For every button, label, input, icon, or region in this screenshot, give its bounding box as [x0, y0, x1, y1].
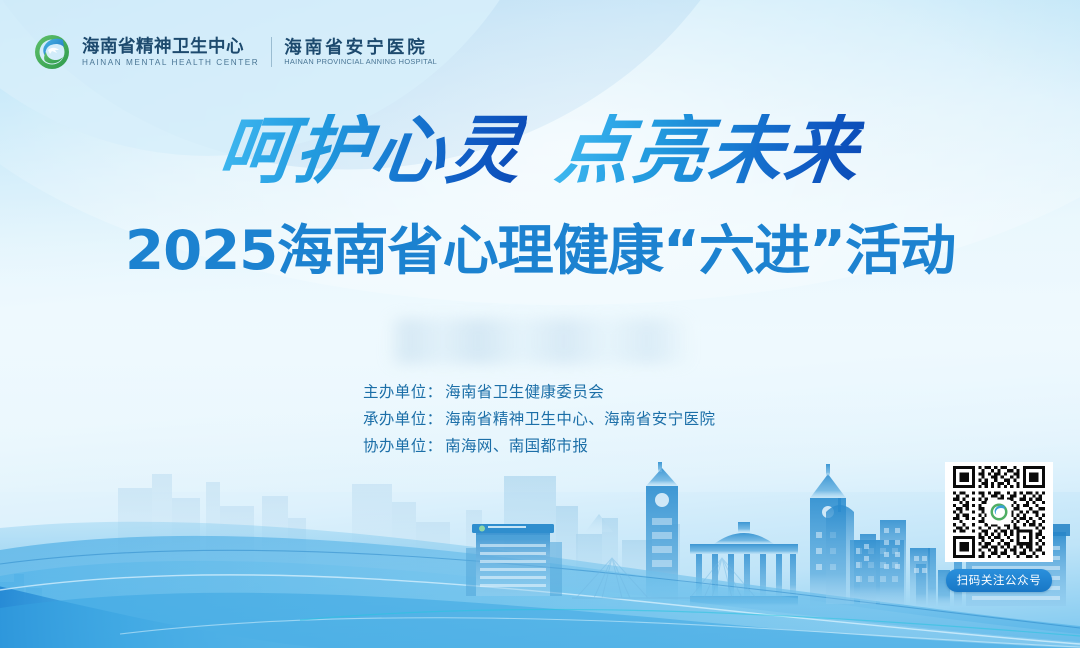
brand-wordmarks: 海南省精神卫生中心 HAINAN MENTAL HEALTH CENTER 海南… [82, 37, 437, 67]
organizer-credits: 主办单位 ： 海南省卫生健康委员会 承办单位 ： 海南省精神卫生中心、海南省安宁… [363, 382, 715, 457]
headline-part-2: 点亮未来 [553, 114, 866, 188]
cable-stay-bridges [572, 540, 782, 602]
credit-label: 承办单位 [363, 409, 427, 430]
qr-code-block[interactable]: 扫码关注公众号 [942, 462, 1056, 592]
event-subtitle: 2025海南省心理健康“六进”活动 [0, 222, 1080, 279]
credit-separator: ： [427, 409, 446, 430]
brand-primary: 海南省精神卫生中心 HAINAN MENTAL HEALTH CENTER [82, 37, 259, 67]
brand-secondary-cn: 海南省安宁医院 [284, 38, 437, 58]
credit-row: 承办单位 ： 海南省精神卫生中心、海南省安宁医院 [363, 409, 715, 430]
brand-secondary-en: HAINAN PROVINCIAL ANNING HOSPITAL [284, 58, 437, 66]
headline-part-1: 呵护心灵 [214, 114, 527, 188]
brand-logo-bar: 海南省精神卫生中心 HAINAN MENTAL HEALTH CENTER 海南… [33, 33, 437, 71]
credit-row: 协办单位 ： 南海网、南国都市报 [363, 436, 715, 457]
qr-caption-label[interactable]: 扫码关注公众号 [946, 569, 1053, 592]
credit-separator: ： [427, 436, 446, 457]
modern-highrise-cluster [810, 494, 960, 604]
credit-value: 海南省卫生健康委员会 [445, 382, 604, 403]
event-subtitle-text: 2025海南省心理健康“六进”活动 [125, 222, 955, 279]
brand-primary-en: HAINAN MENTAL HEALTH CENTER [82, 58, 259, 67]
poster-canvas: 海南省精神卫生中心 HAINAN MENTAL HEALTH CENTER 海南… [0, 0, 1080, 648]
brand-divider [271, 37, 272, 67]
qr-code-frame[interactable] [945, 462, 1053, 562]
qr-center-emblem-icon [987, 500, 1012, 525]
credit-separator: ： [427, 382, 446, 403]
brand-secondary: 海南省安宁医院 HAINAN PROVINCIAL ANNING HOSPITA… [284, 38, 437, 67]
calligraphy-headline: 呵护心灵 点亮未来 [0, 114, 1080, 188]
hainan-mental-health-emblem-icon [33, 33, 71, 71]
qr-code-image[interactable] [949, 466, 1049, 558]
redacted-text-strip [387, 318, 693, 364]
brand-primary-cn: 海南省精神卫生中心 [82, 37, 259, 57]
credit-label: 协办单位 [363, 436, 427, 457]
hospital-foreground [466, 518, 564, 596]
credit-row: 主办单位 ： 海南省卫生健康委员会 [363, 382, 715, 403]
credit-label: 主办单位 [363, 382, 427, 403]
credit-value: 南海网、南国都市报 [445, 436, 588, 457]
credit-value: 海南省精神卫生中心、海南省安宁医院 [445, 409, 715, 430]
